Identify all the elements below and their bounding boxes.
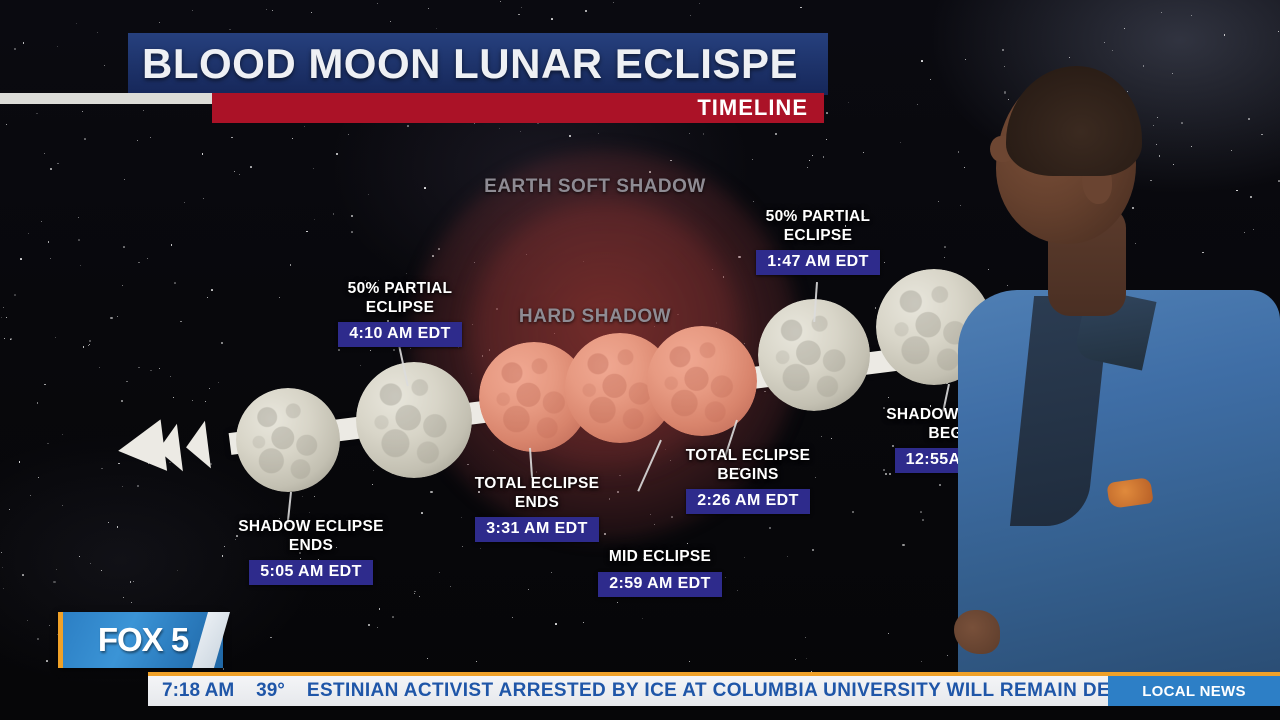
event-caption: TOTAL ECLIPSE ENDS <box>437 475 637 512</box>
arrow-chevron-icon <box>183 421 211 471</box>
event-time-badge-wrap: 3:31 AM EDT <box>437 512 637 542</box>
event-time-badge-wrap: 2:26 AM EDT <box>658 484 838 514</box>
event-caption: 50% PARTIAL ECLIPSE <box>294 280 506 317</box>
broadcast-screen: EARTH SOFT SHADOW HARD SHADOW SHADOW ECL… <box>0 0 1280 720</box>
hard-shadow-label: HARD SHADOW <box>470 306 720 328</box>
event-time-badge: 4:10 AM EDT <box>338 322 462 347</box>
moon-phase-2 <box>356 362 472 478</box>
event-time-badge: 1:47 AM EDT <box>756 250 880 275</box>
timeline-event-3: TOTAL ECLIPSE ENDS3:31 AM EDT <box>437 475 637 542</box>
moon-phase-1 <box>236 388 340 492</box>
arrow-chevron-icon <box>155 424 183 474</box>
timeline-event-1: SHADOW ECLIPSE ENDS5:05 AM EDT <box>205 518 417 585</box>
graphic-subtitle-bar: TIMELINE <box>212 93 824 123</box>
event-caption: MID ECLIPSE <box>570 548 750 567</box>
moon-craters <box>356 362 472 478</box>
event-time-badge: 2:26 AM EDT <box>686 489 810 514</box>
event-time-badge: 2:59 AM EDT <box>598 572 722 597</box>
event-time-badge-wrap: 5:05 AM EDT <box>205 555 417 585</box>
moon-craters <box>236 388 340 492</box>
ticker-temperature: 39° <box>234 680 285 702</box>
event-time-badge: 3:31 AM EDT <box>475 517 599 542</box>
event-time-badge: 5:05 AM EDT <box>249 560 373 585</box>
page-title: BLOOD MOON LUNAR ECLISPE <box>142 40 798 88</box>
graphic-title-bar: BLOOD MOON LUNAR ECLISPE <box>128 33 828 95</box>
timeline-event-2: 50% PARTIAL ECLIPSE4:10 AM EDT <box>294 280 506 347</box>
station-logo-text: FOX 5 <box>98 621 188 659</box>
title-underline-rule <box>0 93 212 104</box>
event-time-badge-wrap: 1:47 AM EDT <box>730 245 906 275</box>
event-caption: 50% PARTIAL ECLIPSE <box>730 208 906 245</box>
earth-soft-shadow-label: EARTH SOFT SHADOW <box>470 176 720 198</box>
event-time-badge-wrap: 4:10 AM EDT <box>294 317 506 347</box>
meteorologist-presenter <box>930 10 1280 670</box>
event-caption: TOTAL ECLIPSE BEGINS <box>658 447 838 484</box>
ticker-category-badge: LOCAL NEWS <box>1108 676 1280 706</box>
moon-phase-5 <box>647 326 757 436</box>
presenter-hair <box>1006 66 1142 176</box>
ticker-clock: 7:18 AM <box>148 680 234 702</box>
moon-craters <box>647 326 757 436</box>
ticker-category-label: LOCAL NEWS <box>1142 683 1246 700</box>
timeline-event-5: TOTAL ECLIPSE BEGINS2:26 AM EDT <box>658 447 838 514</box>
timeline-event-6: 50% PARTIAL ECLIPSE1:47 AM EDT <box>730 208 906 275</box>
ticker-headline: ESTINIAN ACTIVIST ARRESTED BY ICE AT COL… <box>285 680 1122 702</box>
timeline-event-4: MID ECLIPSE2:59 AM EDT <box>570 548 750 597</box>
event-caption: SHADOW ECLIPSE ENDS <box>205 518 417 555</box>
subtitle-text: TIMELINE <box>697 95 808 121</box>
event-time-badge-wrap: 2:59 AM EDT <box>570 567 750 597</box>
